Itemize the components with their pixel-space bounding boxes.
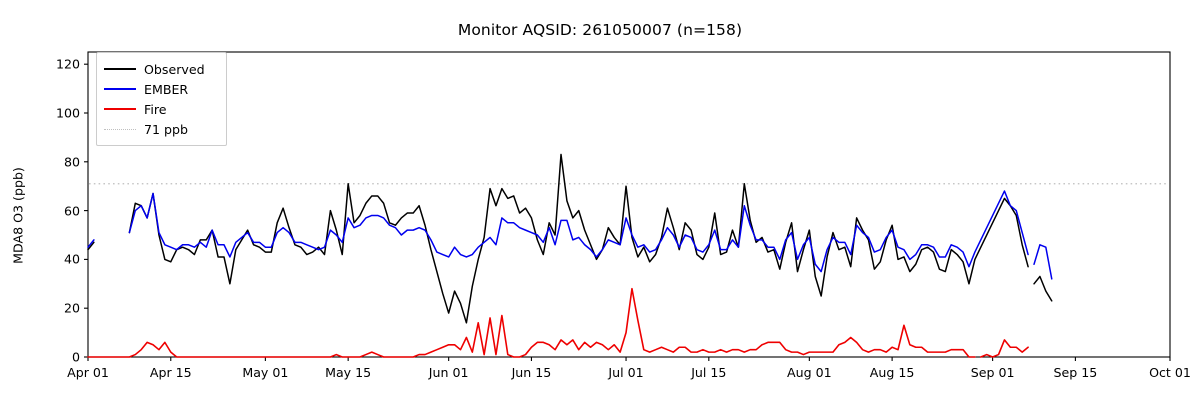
x-tick-label: Aug 15 (870, 365, 915, 380)
legend-swatch-icon (104, 123, 136, 135)
legend-item: EMBER (104, 79, 219, 99)
y-tick-label: 40 (38, 252, 80, 267)
x-tick-label: Apr 15 (150, 365, 192, 380)
legend-item: Observed (104, 59, 219, 79)
x-tick-label: May 01 (242, 365, 288, 380)
x-tick-label: Oct 01 (1149, 365, 1191, 380)
series-line-ember (1034, 245, 1052, 279)
x-tick-label: Jun 01 (429, 365, 469, 380)
legend-label: 71 ppb (144, 122, 188, 137)
legend-swatch-icon (104, 83, 136, 95)
legend-item: Fire (104, 99, 219, 119)
series-observed (88, 154, 1052, 322)
series-line-observed (1034, 276, 1052, 300)
y-tick-label: 60 (38, 203, 80, 218)
y-tick-label: 20 (38, 301, 80, 316)
series-fire (88, 289, 1028, 357)
legend-swatch-icon (104, 103, 136, 115)
legend-label: Observed (144, 62, 205, 77)
y-tick-label: 80 (38, 154, 80, 169)
x-tick-label: Jul 01 (608, 365, 643, 380)
x-tick-label: Aug 01 (787, 365, 832, 380)
x-tick-label: Apr 01 (67, 365, 109, 380)
y-tick-label: 120 (38, 57, 80, 72)
series-line-observed (129, 154, 1028, 322)
x-tick-label: May 15 (325, 365, 371, 380)
y-tick-label: 0 (38, 350, 80, 365)
y-tick-label: 100 (38, 106, 80, 121)
x-tick-label: Sep 15 (1054, 365, 1098, 380)
legend-label: EMBER (144, 82, 188, 97)
x-tick-label: Jun 15 (512, 365, 552, 380)
chart-figure: Monitor AQSID: 261050007 (n=158) MDA8 O3… (0, 0, 1200, 400)
series-line-fire (981, 340, 1028, 357)
legend-item: 71 ppb (104, 119, 219, 139)
x-tick-label: Jul 15 (691, 365, 726, 380)
chart-legend: ObservedEMBERFire71 ppb (96, 52, 227, 146)
series-line-ember (129, 191, 1028, 272)
legend-label: Fire (144, 102, 166, 117)
x-tick-label: Sep 01 (971, 365, 1015, 380)
legend-swatch-icon (104, 63, 136, 75)
series-line-fire (88, 289, 975, 357)
